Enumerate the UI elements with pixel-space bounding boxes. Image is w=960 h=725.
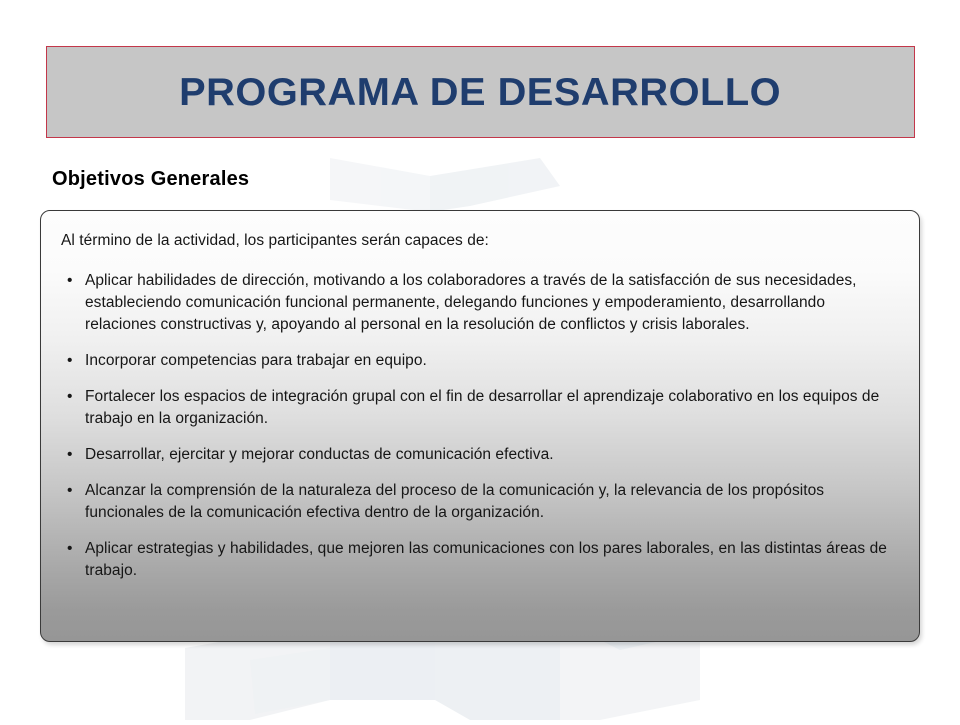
bullet-icon: •	[67, 444, 72, 466]
list-item: • Alcanzar la comprensión de la naturale…	[59, 480, 897, 524]
bullet-icon: •	[67, 480, 72, 502]
section-heading: Objetivos Generales	[52, 168, 249, 191]
slide-canvas: PROGRAMA DE DESARROLLO Objetivos General…	[0, 0, 960, 720]
list-item: • Incorporar competencias para trabajar …	[59, 350, 897, 372]
list-item-text: Desarrollar, ejercitar y mejorar conduct…	[85, 446, 554, 463]
list-item: • Aplicar estrategias y habilidades, que…	[59, 538, 897, 582]
bullet-icon: •	[67, 270, 72, 292]
list-item-text: Alcanzar la comprensión de la naturaleza…	[85, 482, 824, 521]
intro-text: Al término de la actividad, los particip…	[61, 231, 897, 252]
bullet-icon: •	[67, 386, 72, 408]
list-item-text: Fortalecer los espacios de integración g…	[85, 388, 879, 427]
title-banner: PROGRAMA DE DESARROLLO	[46, 46, 915, 138]
bullet-icon: •	[67, 350, 72, 372]
list-item: • Desarrollar, ejercitar y mejorar condu…	[59, 444, 897, 466]
page-title: PROGRAMA DE DESARROLLO	[179, 73, 781, 112]
list-item: • Fortalecer los espacios de integración…	[59, 386, 897, 430]
list-item-text: Aplicar estrategias y habilidades, que m…	[85, 540, 887, 579]
list-item: • Aplicar habilidades de dirección, moti…	[59, 270, 897, 336]
objectives-panel: Al término de la actividad, los particip…	[40, 210, 920, 642]
objectives-list: • Aplicar habilidades de dirección, moti…	[59, 270, 897, 582]
list-item-text: Incorporar competencias para trabajar en…	[85, 352, 427, 369]
list-item-text: Aplicar habilidades de dirección, motiva…	[85, 272, 857, 333]
bullet-icon: •	[67, 538, 72, 560]
